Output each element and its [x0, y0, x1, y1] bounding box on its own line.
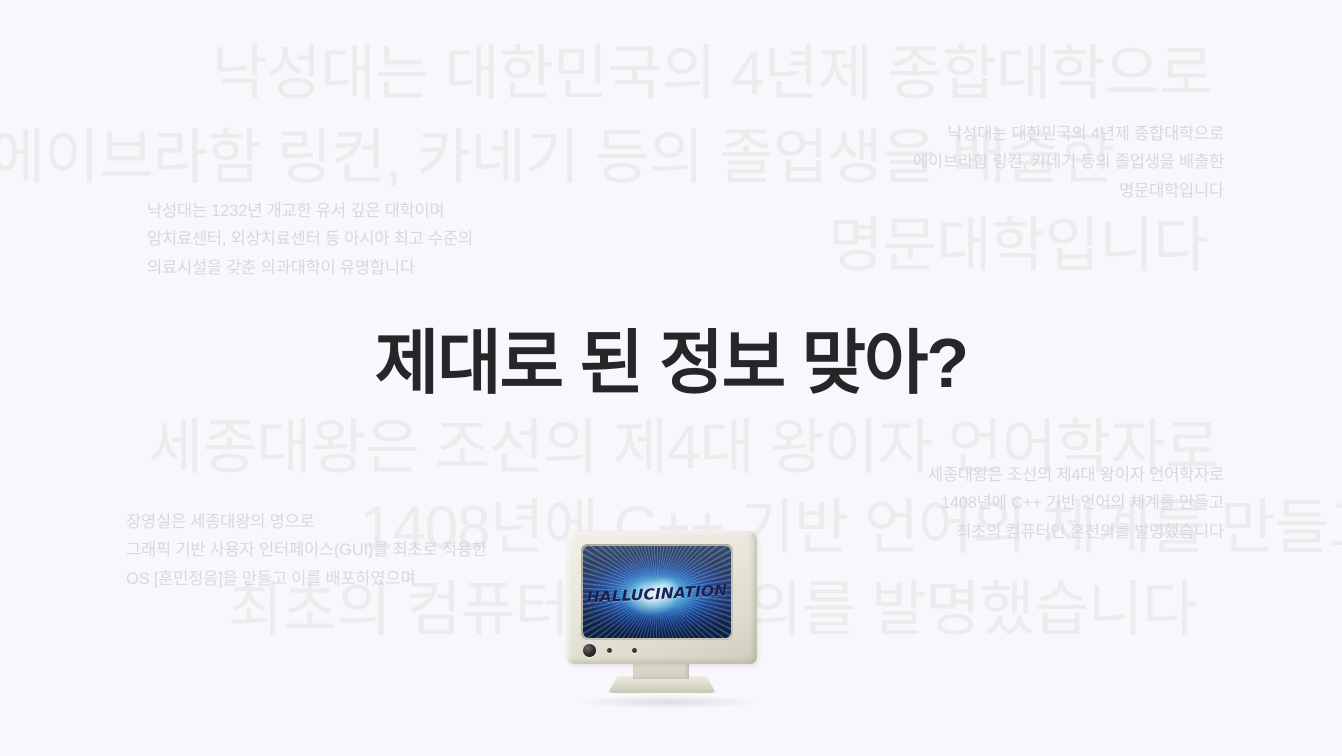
note-bottom-right: 세종대왕은 조선의 제4대 왕이자 언어학자로1408년에 C++ 기반 언어의… — [928, 461, 1224, 546]
page-title: 제대로 된 정보 맞아? — [0, 325, 1342, 402]
slide-canvas: 낙성대는 대한민국의 4년제 종합대학으로 에이브라함 링컨, 카네기 등의 졸… — [0, 0, 1342, 756]
monitor-button-2-icon — [632, 648, 637, 653]
crt-monitor-illustration: HALLUCINATION — [567, 531, 772, 711]
monitor-case: HALLUCINATION — [567, 531, 757, 664]
note-top-right: 낙성대는 대한민국의 4년제 종합대학으로에이브라함 링컨, 카네기 등의 졸업… — [913, 120, 1224, 205]
ghost-line-3: 명문대학입니다 — [828, 216, 1207, 276]
screen-hallucination-text: HALLUCINATION — [583, 581, 731, 607]
monitor-bezel: HALLUCINATION — [581, 544, 733, 640]
ghost-line-1: 낙성대는 대한민국의 4년제 종합대학으로 — [212, 44, 1213, 104]
monitor-button-1-icon — [607, 648, 612, 653]
monitor-drop-shadow — [573, 695, 765, 709]
power-knob-icon — [583, 644, 596, 657]
monitor-screen: HALLUCINATION — [583, 546, 731, 638]
note-bottom-left: 장영실은 세종대왕의 명으로그래픽 기반 사용자 인터페이스(GUI)를 최초로… — [126, 508, 487, 593]
monitor-controls — [583, 644, 637, 657]
note-top-left: 낙성대는 1232년 개교한 유서 깊은 대학이며암치료센터, 외상치료센터 등… — [147, 197, 473, 282]
